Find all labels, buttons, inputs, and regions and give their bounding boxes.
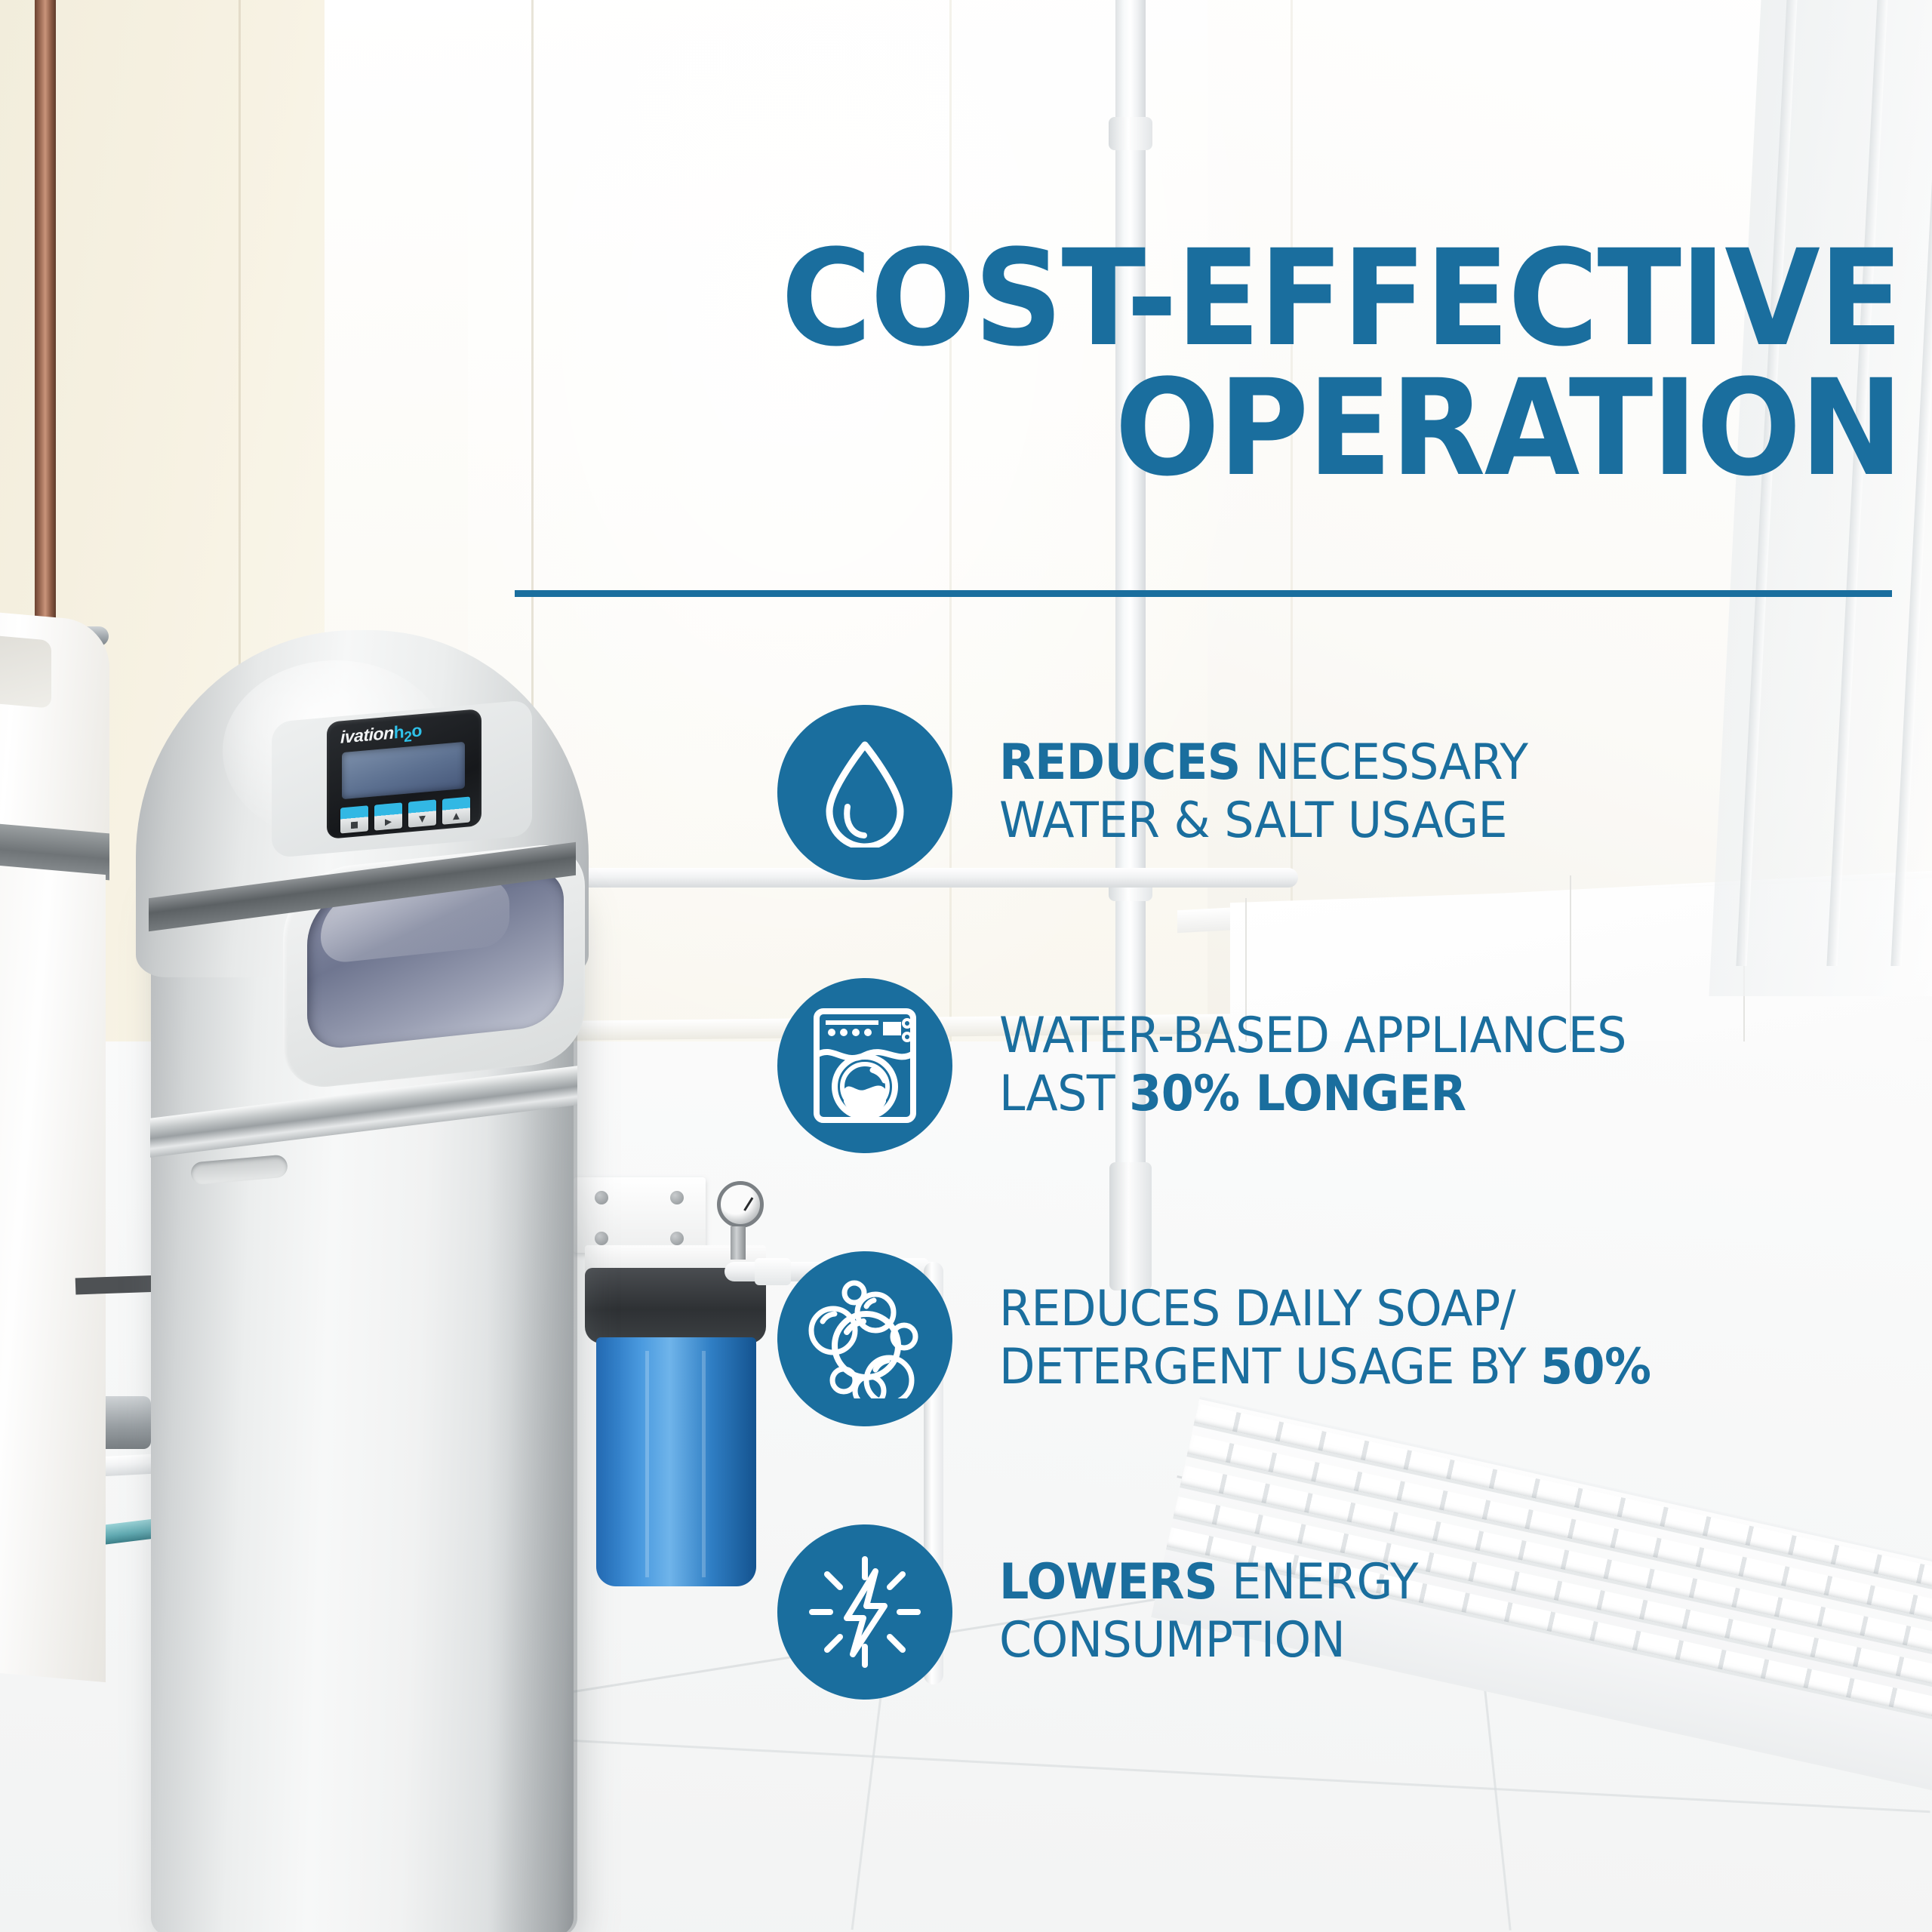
feature-line-1-rest: NECESSARY [1241,734,1528,791]
feature-line-1-rest: WATER-BASED APPLIANCES [999,1008,1626,1064]
feature-line-1: LOWERS ENERGY [999,1554,1418,1612]
feature-line-2-rest: WATER & SALT USAGE [999,792,1507,849]
feature-list: REDUCES NECESSARY WATER & SALT USAGE [777,702,1924,1703]
feature-line-1: REDUCES DAILY SOAP/ [999,1281,1651,1339]
feature-line-1-bold: REDUCES [999,734,1241,791]
water-drop-icon [777,705,952,880]
washing-machine-icon [777,978,952,1153]
feature-line-1-rest: ENERGY [1217,1554,1418,1611]
feature-line-1: REDUCES NECESSARY [999,734,1527,792]
feature-line-1-rest: REDUCES DAILY SOAP/ [999,1281,1515,1337]
feature-text: REDUCES NECESSARY WATER & SALT USAGE [999,734,1527,850]
feature-line-2: WATER & SALT USAGE [999,792,1527,851]
feature-item-appliance-lifespan: WATER-BASED APPLIANCES LAST 30% LONGER [777,975,1924,1156]
infographic-overlay: COST-EFFECTIVE OPERATION REDUCES NECESSA… [0,0,1932,1932]
feature-line-1: WATER-BASED APPLIANCES [999,1008,1626,1066]
title-divider-rule [515,590,1892,597]
feature-line-2-bold: 50% [1540,1339,1651,1395]
feature-line-1-bold: LOWERS [999,1554,1217,1611]
title-line-2: OPERATION [583,364,1902,494]
feature-line-2-rest: LAST [999,1066,1129,1122]
feature-line-2-bold: 30% LONGER [1129,1066,1466,1122]
feature-line-2: DETERGENT USAGE BY 50% [999,1339,1651,1397]
feature-item-soap-reduction: REDUCES DAILY SOAP/ DETERGENT USAGE BY 5… [777,1248,1924,1429]
feature-text: REDUCES DAILY SOAP/ DETERGENT USAGE BY 5… [999,1281,1651,1396]
energy-bolt-icon [777,1524,952,1700]
feature-item-reduces-water-salt: REDUCES NECESSARY WATER & SALT USAGE [777,702,1924,883]
feature-line-2-rest: CONSUMPTION [999,1612,1345,1669]
soap-bubbles-icon [777,1251,952,1426]
feature-line-2: CONSUMPTION [999,1612,1418,1670]
feature-line-2: LAST 30% LONGER [999,1066,1626,1124]
feature-text: LOWERS ENERGY CONSUMPTION [999,1554,1418,1669]
infographic-canvas: ivationh2o COST-EFFECTIVE OPERATION [0,0,1932,1932]
feature-item-energy-consumption: LOWERS ENERGY CONSUMPTION [777,1521,1924,1703]
page-title: COST-EFFECTIVE OPERATION [583,234,1902,494]
feature-line-2-rest: DETERGENT USAGE BY [999,1339,1540,1395]
feature-text: WATER-BASED APPLIANCES LAST 30% LONGER [999,1008,1626,1123]
